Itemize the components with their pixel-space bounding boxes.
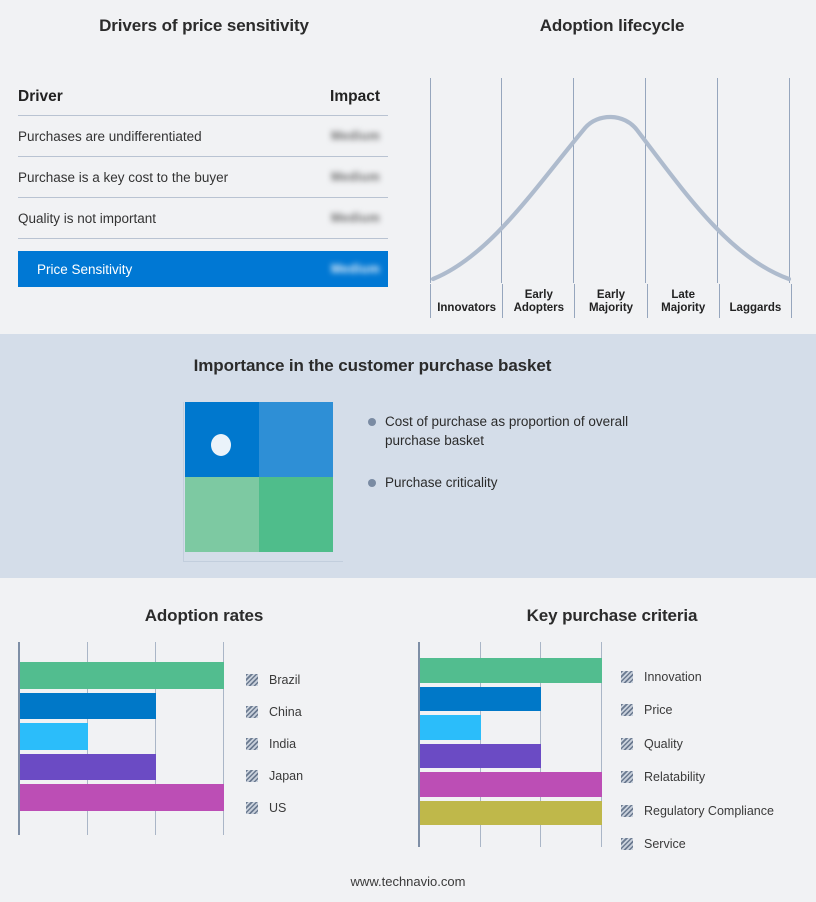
legend-label: Innovation bbox=[644, 670, 702, 684]
criteria-plot-area bbox=[418, 642, 600, 847]
legend-label: Quality bbox=[644, 737, 683, 751]
impact-value-obscured: Medium bbox=[331, 211, 380, 225]
legend-item: Brazil bbox=[246, 664, 386, 696]
adoption-legend: BrazilChinaIndiaJapanUS bbox=[246, 664, 386, 824]
legend-hatch-icon bbox=[246, 674, 258, 686]
lifecycle-panel-title: Adoption lifecycle bbox=[408, 16, 816, 36]
stage-line-1: Laggards bbox=[730, 302, 782, 314]
basket-panel-title: Importance in the customer purchase bask… bbox=[0, 356, 745, 376]
legend-label: Relatability bbox=[644, 770, 705, 784]
legend-hatch-icon bbox=[246, 770, 258, 782]
table-row: Quality is not important Medium bbox=[18, 198, 388, 239]
impact-value-obscured: Medium bbox=[331, 129, 380, 143]
legend-item: Relatability bbox=[621, 761, 811, 795]
drivers-of-price-sensitivity-panel: Drivers of price sensitivity Driver Impa… bbox=[0, 0, 408, 334]
bar-regulatory-compliance bbox=[420, 772, 602, 797]
legend-bullet-icon bbox=[368, 479, 376, 487]
legend-item: China bbox=[246, 696, 386, 728]
key-purchase-criteria-title: Key purchase criteria bbox=[408, 606, 816, 626]
quadrant-chart bbox=[183, 402, 343, 562]
drivers-panel-title: Drivers of price sensitivity bbox=[0, 16, 408, 36]
bar-brazil bbox=[20, 662, 224, 689]
driver-label: Purchase is a key cost to the buyer bbox=[18, 170, 228, 185]
legend-label: India bbox=[269, 737, 296, 751]
stage-line-1: Early bbox=[525, 289, 553, 301]
purchase-basket-panel: Importance in the customer purchase bask… bbox=[0, 334, 816, 578]
legend-item: India bbox=[246, 728, 386, 760]
lifecycle-stage-innovators: Innovators bbox=[430, 284, 503, 318]
legend-hatch-icon bbox=[621, 838, 633, 850]
legend-item: Cost of purchase as proportion of overal… bbox=[368, 412, 698, 450]
bar-japan bbox=[20, 754, 156, 781]
adoption-plot-area bbox=[18, 642, 222, 835]
quadrant-grid bbox=[185, 402, 333, 552]
bar-quality bbox=[420, 715, 481, 740]
table-row: Purchase is a key cost to the buyer Medi… bbox=[18, 157, 388, 198]
legend-hatch-icon bbox=[621, 738, 633, 750]
legend-hatch-icon bbox=[246, 802, 258, 814]
table-row: Purchases are undifferentiated Medium bbox=[18, 116, 388, 157]
lifecycle-stage-laggards: Laggards bbox=[720, 284, 792, 318]
bar-service bbox=[420, 801, 602, 826]
legend-hatch-icon bbox=[621, 771, 633, 783]
lifecycle-stage-late-majority: LateMajority bbox=[648, 284, 720, 318]
stage-line-2: Adopters bbox=[514, 302, 564, 314]
driver-label: Quality is not important bbox=[18, 211, 156, 226]
quadrant-marker-dot bbox=[211, 434, 231, 456]
lifecycle-stage-early-majority: EarlyMajority bbox=[575, 284, 647, 318]
column-header-driver: Driver bbox=[18, 88, 63, 106]
bell-curve-line bbox=[430, 78, 792, 283]
legend-label: China bbox=[269, 705, 302, 719]
lifecycle-stage-labels: Innovators EarlyAdopters EarlyMajority L… bbox=[430, 284, 792, 318]
bar-relatability bbox=[420, 744, 541, 769]
legend-item: Price bbox=[621, 694, 811, 728]
legend-hatch-icon bbox=[621, 704, 633, 716]
legend-label: Regulatory Compliance bbox=[644, 804, 774, 818]
legend-item: Quality bbox=[621, 727, 811, 761]
legend-hatch-icon bbox=[246, 738, 258, 750]
legend-item: Service bbox=[621, 828, 811, 862]
bar-price bbox=[420, 687, 541, 712]
key-purchase-criteria-panel: Key purchase criteria InnovationPriceQua… bbox=[408, 578, 816, 902]
price-sensitivity-summary-row: Price Sensitivity Medium bbox=[18, 251, 388, 287]
legend-label: Service bbox=[644, 837, 686, 851]
legend-item: Japan bbox=[246, 760, 386, 792]
stage-line-1: Innovators bbox=[437, 302, 496, 314]
stage-line-2: Majority bbox=[589, 302, 633, 314]
adoption-lifecycle-panel: Adoption lifecycle Innovators EarlyAdopt… bbox=[408, 0, 816, 334]
quadrant-bottom-right bbox=[259, 477, 333, 552]
lifecycle-bell-curve-chart bbox=[430, 78, 792, 283]
legend-hatch-icon bbox=[246, 706, 258, 718]
impact-value-obscured: Medium bbox=[331, 170, 380, 184]
lifecycle-stage-early-adopters: EarlyAdopters bbox=[503, 284, 575, 318]
legend-label: Japan bbox=[269, 769, 303, 783]
bar-innovation bbox=[420, 658, 602, 683]
column-header-impact: Impact bbox=[330, 88, 380, 106]
stage-line-1: Late bbox=[671, 289, 695, 301]
footer-url: www.technavio.com bbox=[0, 874, 816, 889]
legend-item: Regulatory Compliance bbox=[621, 794, 811, 828]
quadrant-top-right bbox=[259, 402, 333, 477]
drivers-table-header: Driver Impact bbox=[18, 88, 388, 116]
legend-hatch-icon bbox=[621, 671, 633, 683]
bar-china bbox=[20, 693, 156, 720]
legend-item: Innovation bbox=[621, 660, 811, 694]
drivers-table: Driver Impact Purchases are undifferenti… bbox=[18, 88, 388, 287]
bar-us bbox=[20, 784, 224, 811]
key-purchase-criteria-chart: InnovationPriceQualityRelatabilityRegula… bbox=[418, 642, 813, 852]
bar-india bbox=[20, 723, 88, 750]
legend-label: Purchase criticality bbox=[385, 473, 498, 492]
adoption-rates-title: Adoption rates bbox=[0, 606, 408, 626]
adoption-rates-chart: BrazilChinaIndiaJapanUS bbox=[18, 642, 393, 842]
stage-line-2: Majority bbox=[661, 302, 705, 314]
legend-item: Purchase criticality bbox=[368, 473, 698, 492]
adoption-rates-panel: Adoption rates BrazilChinaIndiaJapanUS bbox=[0, 578, 408, 902]
criteria-legend: InnovationPriceQualityRelatabilityRegula… bbox=[621, 660, 811, 861]
price-sensitivity-impact-obscured: Medium bbox=[331, 262, 380, 276]
legend-label: Cost of purchase as proportion of overal… bbox=[385, 412, 637, 450]
legend-bullet-icon bbox=[368, 418, 376, 426]
legend-label: Brazil bbox=[269, 673, 300, 687]
legend-label: Price bbox=[644, 703, 672, 717]
legend-label: US bbox=[269, 801, 286, 815]
legend-item: US bbox=[246, 792, 386, 824]
quadrant-bottom-left bbox=[185, 477, 259, 552]
quadrant-top-left bbox=[185, 402, 259, 477]
price-sensitivity-label: Price Sensitivity bbox=[37, 262, 132, 277]
basket-legend: Cost of purchase as proportion of overal… bbox=[368, 412, 698, 515]
legend-hatch-icon bbox=[621, 805, 633, 817]
stage-line-1: Early bbox=[597, 289, 625, 301]
driver-label: Purchases are undifferentiated bbox=[18, 129, 202, 144]
